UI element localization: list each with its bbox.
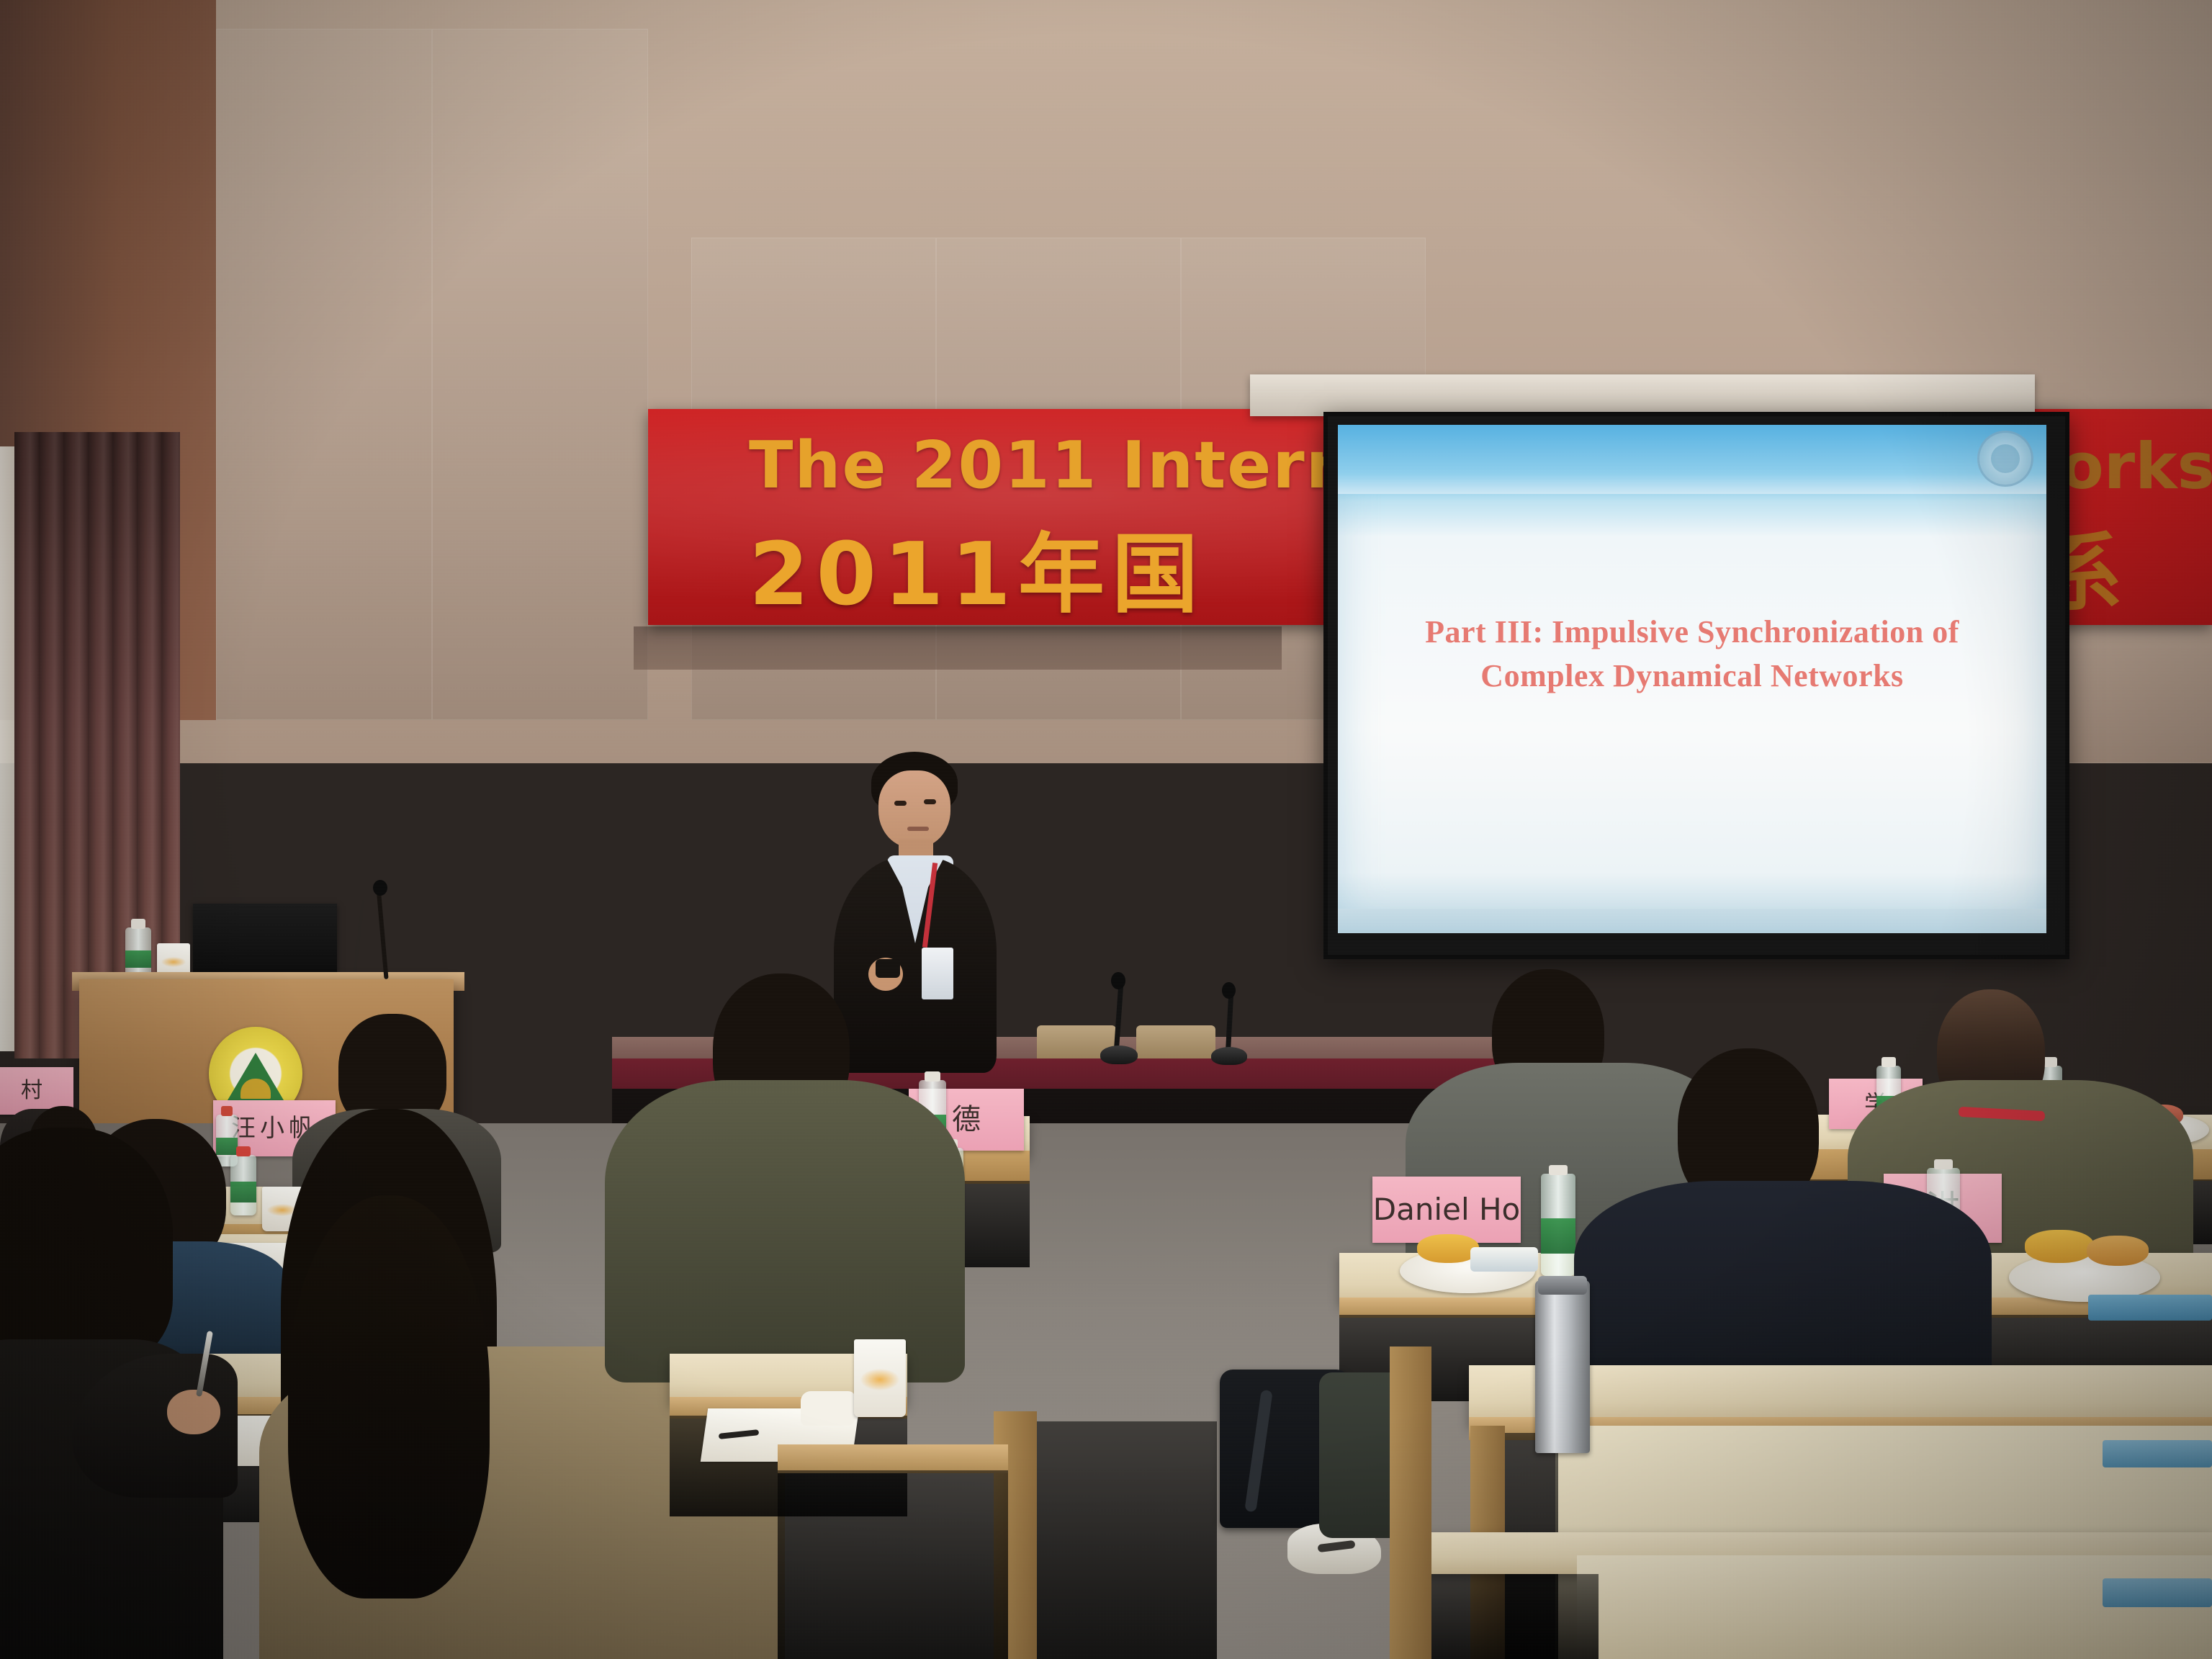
podium-microphone [376, 887, 388, 979]
projection-screen-housing [1250, 374, 2035, 416]
presenter-name-badge [922, 948, 953, 999]
microphone-head-icon [1222, 982, 1236, 999]
presentation-clicker [876, 959, 900, 978]
presenter-face [878, 770, 950, 848]
microphone-base [1100, 1046, 1138, 1064]
presenter-eye-left [894, 801, 907, 806]
desk-underside [1411, 1574, 1599, 1659]
paper-cup [854, 1339, 906, 1417]
napkin [801, 1391, 855, 1426]
desk-leg [1390, 1346, 1431, 1659]
microphone-base [1211, 1047, 1247, 1065]
water-bottle [230, 1155, 256, 1215]
placard-daniel-ho: Daniel Ho [1372, 1177, 1521, 1243]
presenter-eye-right [924, 799, 936, 804]
stage-chair [1136, 1025, 1215, 1058]
attendee-longhair-tan-hair-overlay [288, 1195, 490, 1599]
banner-title-chinese: 2011年国 [749, 504, 1205, 625]
bench-shadow [778, 1470, 1008, 1659]
attendee-writing-woman-hand [167, 1390, 220, 1434]
thermos-flask [1535, 1280, 1590, 1453]
water-bottle [1541, 1174, 1575, 1276]
pastry [2087, 1236, 2149, 1266]
slide-header-band [1338, 425, 2046, 494]
slide-title-line-1: Part III: Impulsive Synchronization of [1338, 611, 2046, 655]
pastry [2025, 1230, 2094, 1263]
projection-screen: Part III: Impulsive Synchronization of C… [1338, 425, 2046, 933]
conference-folder [2088, 1295, 2212, 1321]
slide-title-line-2: Complex Dynamical Networks [1338, 655, 2046, 698]
thermos-cap [1538, 1276, 1587, 1295]
presenter-mouth [907, 827, 929, 831]
slide-title: Part III: Impulsive Synchronization of C… [1338, 611, 2046, 698]
microphone-head-icon [1111, 972, 1125, 989]
conference-room-photo: The 2011 International 2011年国 works 系 Pa… [0, 0, 2212, 1659]
university-watermark-logo-icon [1977, 431, 2033, 487]
attendee-olive-jacket-body [605, 1080, 965, 1382]
conference-folder [2103, 1578, 2212, 1607]
attendee-writing-woman-hair [0, 1128, 173, 1365]
window-curtain [14, 432, 180, 1058]
slide-footer-band [1338, 909, 2046, 933]
stage-header-band [634, 626, 1282, 670]
microphone-head-icon [373, 880, 387, 896]
snack-wrapper [1470, 1247, 1538, 1272]
wall-panel [432, 29, 648, 720]
desk-surface-far-front [1577, 1555, 2212, 1659]
bench-edge [778, 1444, 1008, 1473]
presenter-laptop[interactable] [193, 904, 337, 972]
aisle-shadow [1037, 1421, 1217, 1659]
wall-panel [216, 29, 432, 720]
conference-folder [2103, 1440, 2212, 1467]
